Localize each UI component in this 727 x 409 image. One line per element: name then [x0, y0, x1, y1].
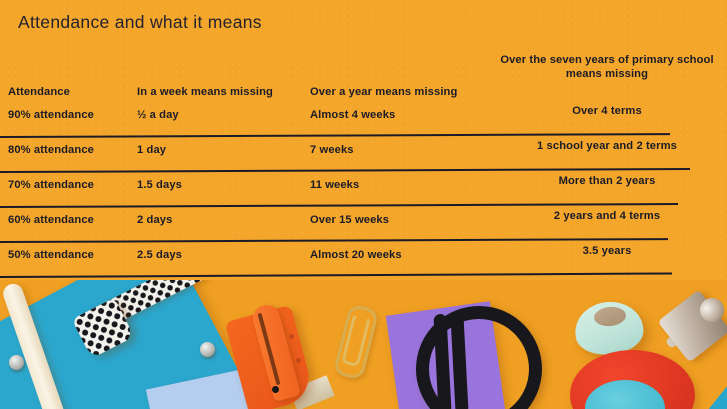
- column-header-week: In a week means missing: [137, 86, 273, 100]
- cell-primary: More than 2 years: [500, 175, 714, 187]
- cell-attendance: 90% attendance: [8, 109, 94, 121]
- cell-year: 7 weeks: [310, 144, 354, 156]
- cell-attendance: 50% attendance: [8, 249, 94, 261]
- table-row: 60% attendance 2 days Over 15 weeks 2 ye…: [0, 208, 727, 243]
- column-header-year: Over a year means missing: [310, 86, 457, 100]
- column-header-attendance: Attendance: [8, 86, 70, 100]
- metal-stud-icon: [9, 355, 24, 370]
- cell-primary: 1 school year and 2 terms: [500, 140, 714, 152]
- cell-year: Almost 20 weeks: [310, 249, 402, 261]
- cell-week: 2 days: [137, 214, 172, 226]
- cell-attendance: 80% attendance: [8, 144, 94, 156]
- cell-primary: 2 years and 4 terms: [500, 210, 714, 222]
- cell-primary: 3.5 years: [500, 245, 714, 257]
- stapler-button-image: [272, 386, 279, 393]
- table-row: 50% attendance 2.5 days Almost 20 weeks …: [0, 243, 727, 278]
- cell-week: 1.5 days: [137, 179, 182, 191]
- attendance-poster: Attendance and what it means Attendance …: [0, 0, 727, 409]
- attendance-table: Attendance In a week means missing Over …: [0, 55, 727, 278]
- cell-week: ½ a day: [137, 109, 179, 121]
- cell-year: Almost 4 weeks: [310, 109, 395, 121]
- row-divider: [0, 273, 672, 278]
- metal-stud-icon: [200, 342, 215, 357]
- table-row: 70% attendance 1.5 days 11 weeks More th…: [0, 173, 727, 208]
- cell-year: 11 weeks: [310, 179, 359, 191]
- blue-triangle-image: [700, 370, 727, 409]
- cell-week: 1 day: [137, 144, 166, 156]
- table-row: 90% attendance ½ a day Almost 4 weeks Ov…: [0, 103, 727, 138]
- column-header-primary: Over the seven years of primary school m…: [500, 54, 714, 81]
- cell-primary: Over 4 terms: [500, 105, 714, 117]
- stapler-rivet-image: [296, 358, 301, 363]
- cell-attendance: 70% attendance: [8, 179, 94, 191]
- table-row: 80% attendance 1 day 7 weeks 1 school ye…: [0, 138, 727, 173]
- stapler-rivet-image: [289, 334, 294, 339]
- cell-year: Over 15 weeks: [310, 214, 389, 226]
- table-header-row: Attendance In a week means missing Over …: [0, 55, 727, 103]
- cell-week: 2.5 days: [137, 249, 182, 261]
- page-title: Attendance and what it means: [18, 12, 262, 33]
- stationery-photo: [0, 280, 727, 409]
- cell-attendance: 60% attendance: [8, 214, 94, 226]
